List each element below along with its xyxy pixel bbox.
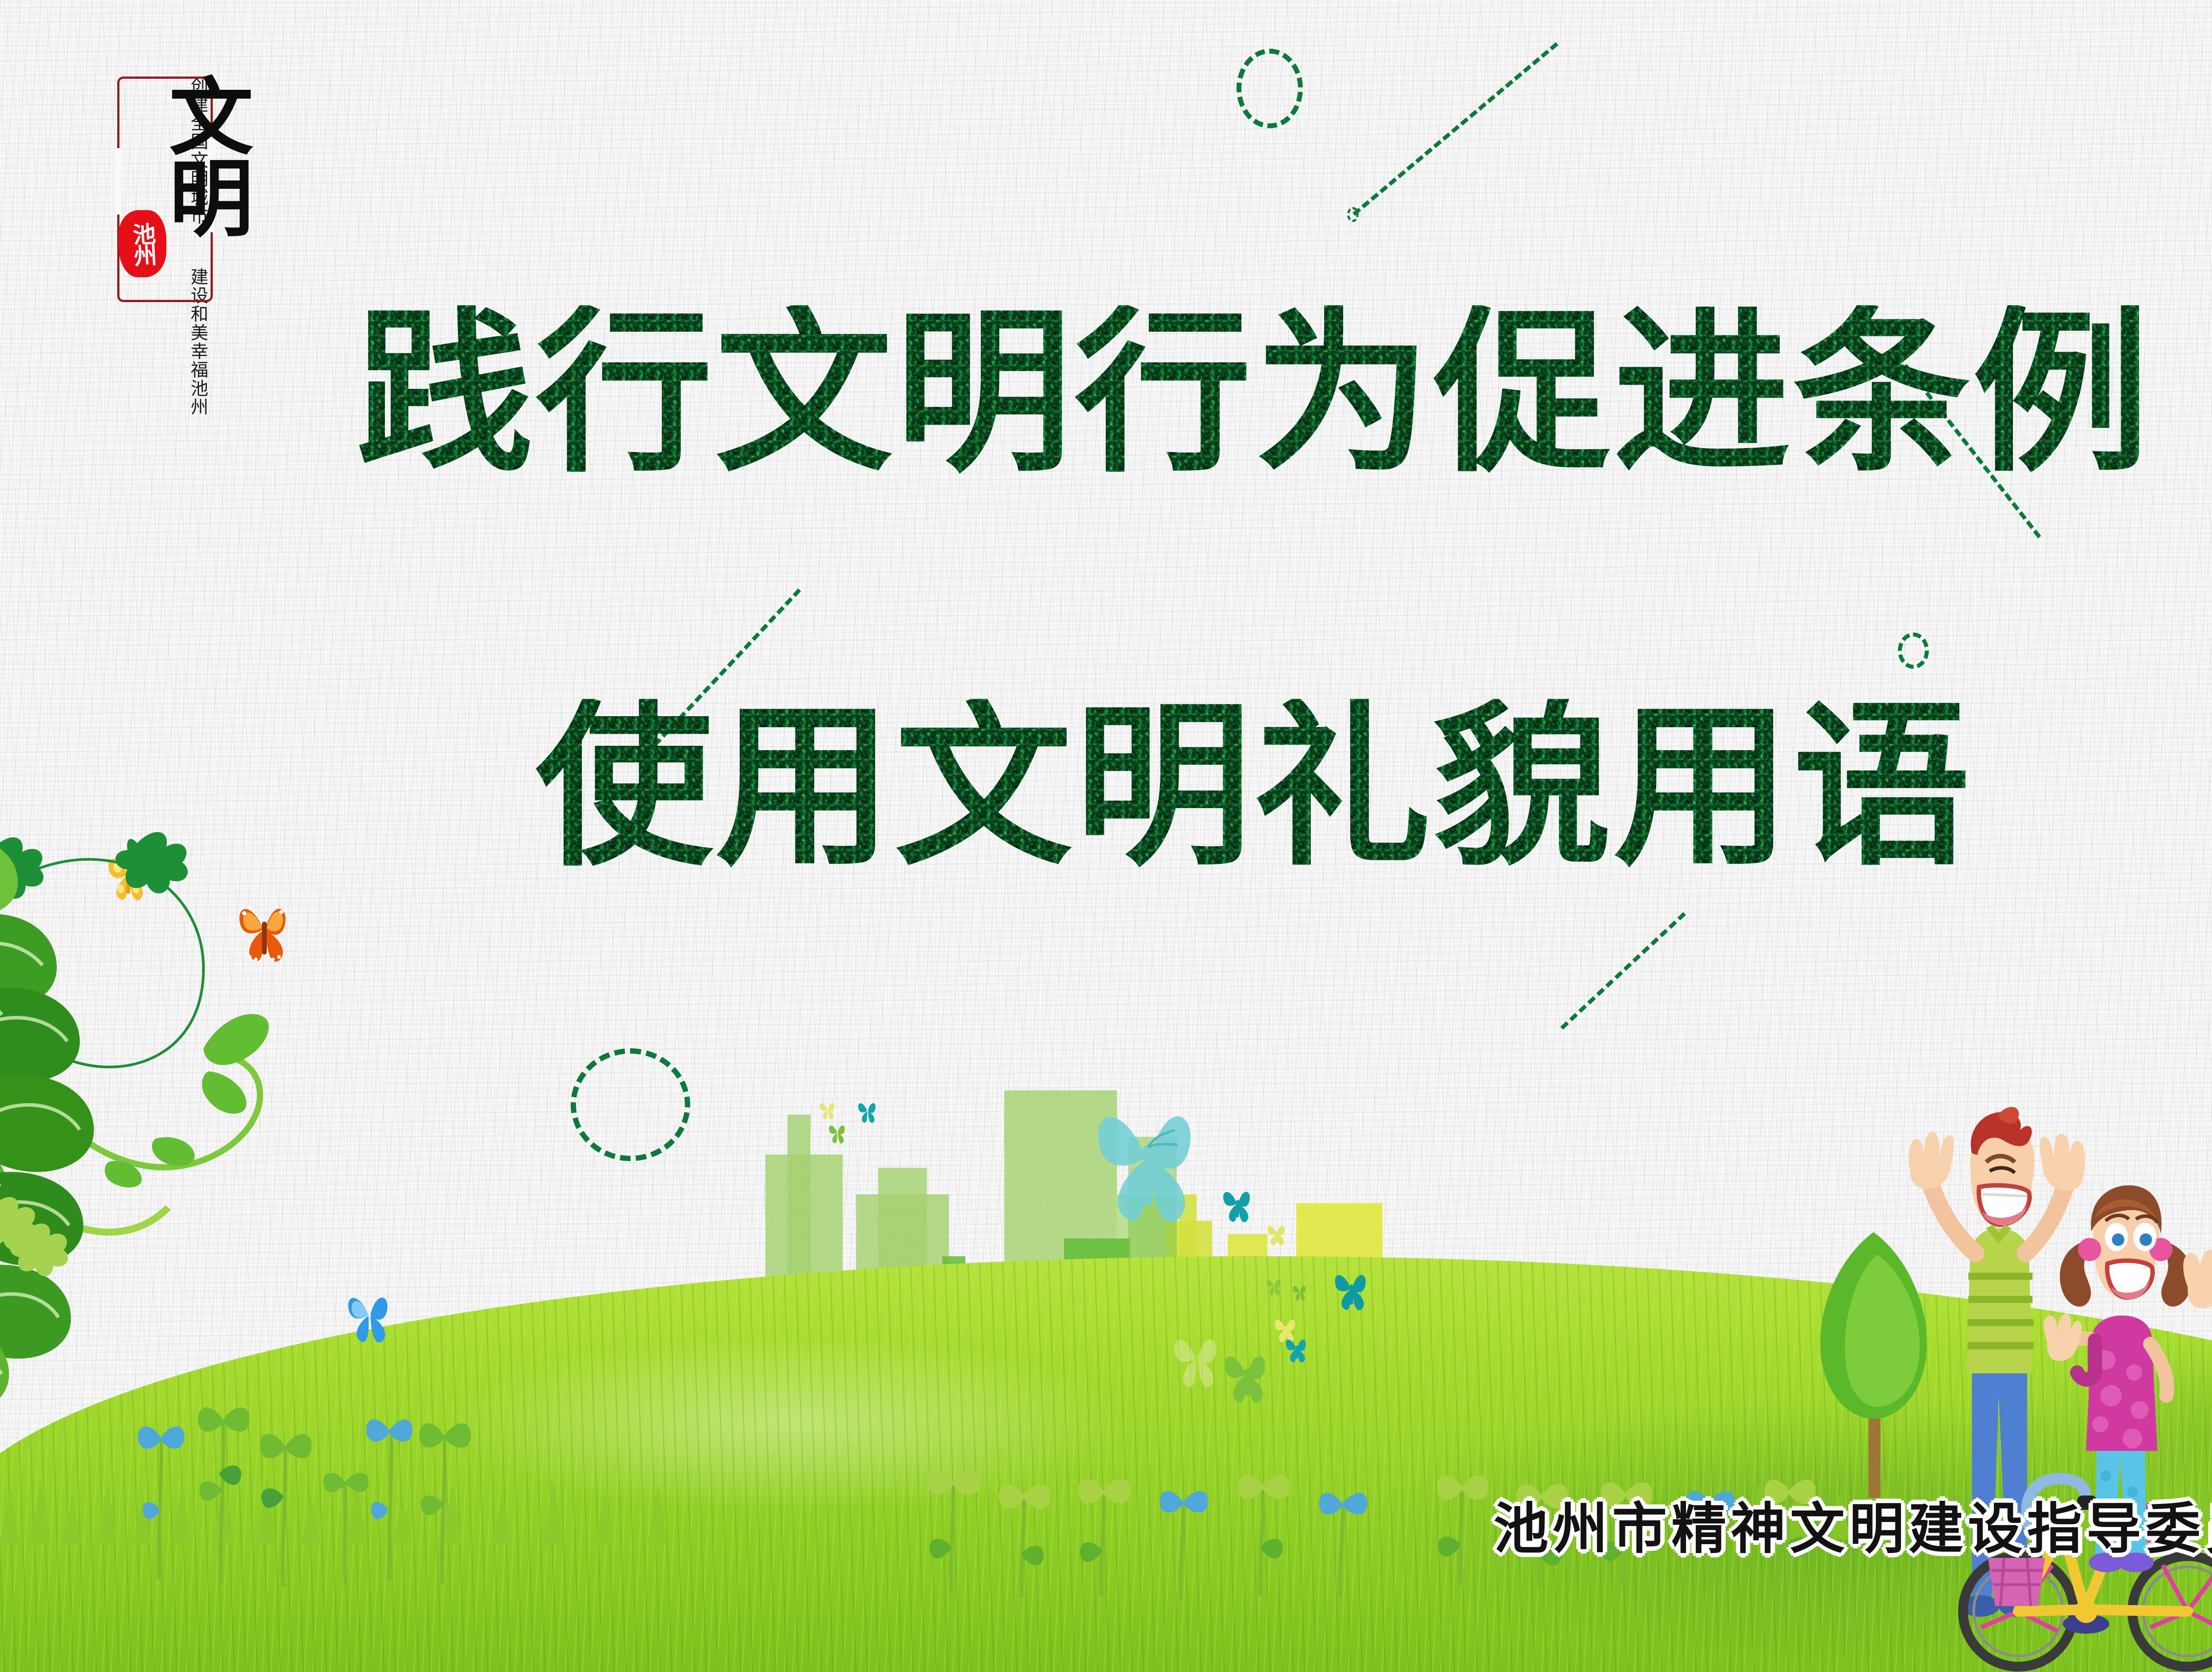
butterfly-blue-lower-left bbox=[336, 1283, 403, 1345]
logo-red-seal: 池州 bbox=[119, 210, 166, 277]
butterfly-teal-small-2 bbox=[1327, 1263, 1376, 1312]
dashed-dot-top bbox=[1347, 207, 1359, 222]
footer-credit-text: 池州市精神文明建设指导委员会 宣 bbox=[1494, 1484, 2212, 1564]
dashed-circle-upper-right bbox=[1898, 633, 1929, 669]
headline-line-1: 践行文明行为促进条例 bbox=[356, 305, 2152, 482]
dashed-circle-top-left bbox=[1237, 49, 1303, 128]
headline-line-2: 使用文明礼貌用语 bbox=[536, 699, 1973, 876]
butterfly-teal-small-1 bbox=[1217, 1181, 1259, 1224]
poster-canvas: 创建全国文明城市 建设和美幸福池州 文明 池州 践行文明行为促进条例 使用文明礼… bbox=[0, 0, 2212, 1672]
title-row-1: 践行文明行为促进条例 bbox=[0, 305, 2212, 482]
butterfly-green-tiny-upper bbox=[825, 1119, 850, 1145]
logo-seal-text: 池州 bbox=[130, 222, 155, 266]
cheering-cartoon-family bbox=[1893, 1097, 2212, 1672]
leaf-cluster-foliage bbox=[0, 792, 274, 1411]
butterfly-pale-yellow bbox=[1164, 1323, 1230, 1391]
city-civilization-logo: 创建全国文明城市 建设和美幸福池州 文明 池州 bbox=[75, 69, 261, 307]
butterfly-yellow-1 bbox=[1263, 1219, 1290, 1247]
title-row-2: 使用文明礼貌用语 bbox=[0, 699, 2212, 876]
butterfly-green-small-1 bbox=[1263, 1274, 1285, 1297]
butterfly-teal-small-3 bbox=[1281, 1331, 1313, 1364]
dashed-circle-center-left bbox=[571, 1048, 690, 1161]
butterfly-green-small-2 bbox=[1290, 1281, 1310, 1302]
butterfly-teal-tiny-upper bbox=[854, 1096, 881, 1124]
butterfly-large-teal bbox=[1075, 1079, 1221, 1230]
butterfly-yellow-tiny-upper bbox=[816, 1097, 839, 1121]
